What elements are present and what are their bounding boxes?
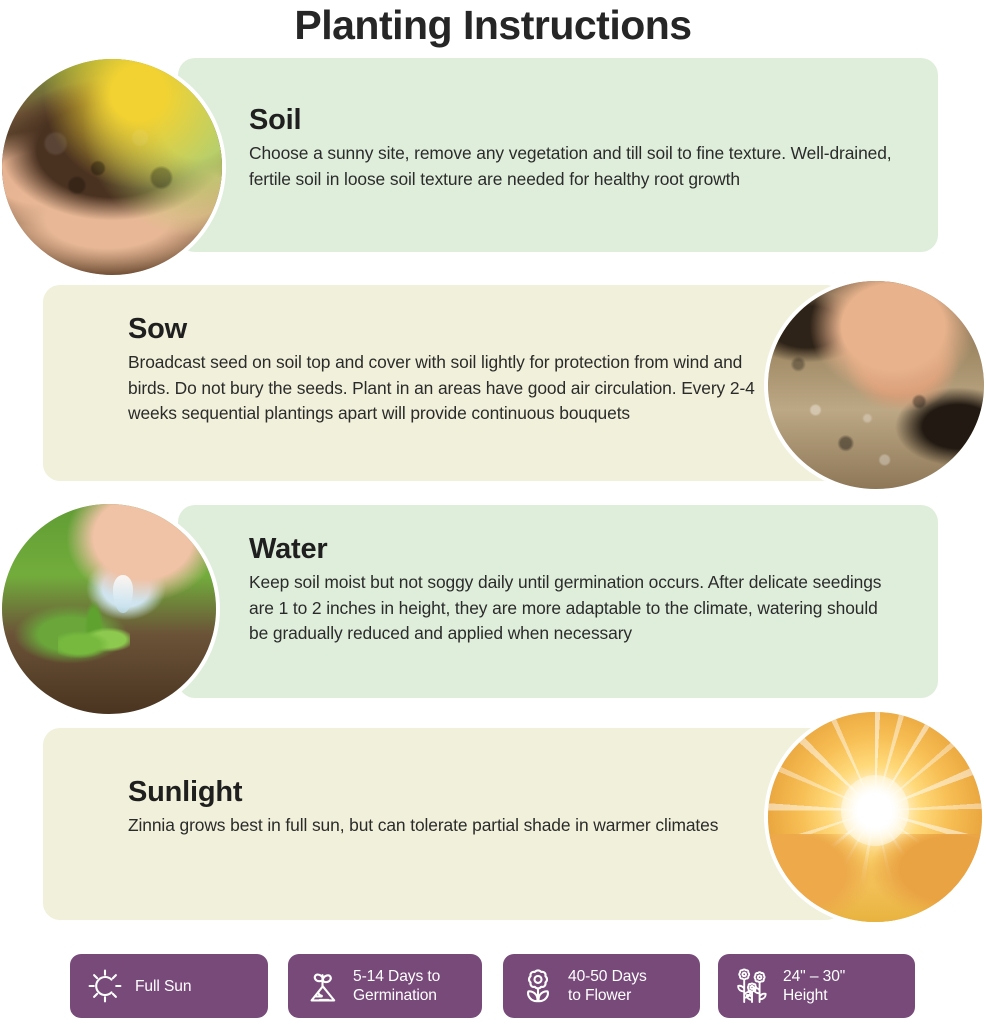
badge-flower[interactable]: 40-50 Days to Flower xyxy=(503,954,700,1018)
watering-seedling-photo xyxy=(0,500,220,718)
soil-in-hands-photo xyxy=(0,55,226,279)
section-heading-soil: Soil xyxy=(249,104,894,137)
section-body-sow: Sow Broadcast seed on soil top and cover… xyxy=(128,313,758,427)
section-body-soil: Soil Choose a sunny site, remove any veg… xyxy=(249,104,894,192)
section-text-water: Keep soil moist but not soggy daily unti… xyxy=(249,570,894,647)
badge-label-flower: 40-50 Days to Flower xyxy=(568,967,647,1005)
badge-height[interactable]: 24" – 30" Height xyxy=(718,954,915,1018)
flower-heights-icon xyxy=(732,965,774,1007)
section-heading-water: Water xyxy=(249,533,894,566)
sprout-mound-icon xyxy=(302,965,344,1007)
section-text-sunlight: Zinnia grows best in full sun, but can t… xyxy=(128,813,748,839)
badge-germination[interactable]: 5-14 Days to Germination xyxy=(288,954,482,1018)
page-title: Planting Instructions xyxy=(0,2,986,49)
section-body-water: Water Keep soil moist but not soggy dail… xyxy=(249,533,894,647)
section-heading-sunlight: Sunlight xyxy=(128,776,748,809)
hand-sowing-seed-photo xyxy=(764,277,986,493)
section-heading-sow: Sow xyxy=(128,313,758,346)
section-text-sow: Broadcast seed on soil top and cover wit… xyxy=(128,350,758,427)
badge-label-height: 24" – 30" Height xyxy=(783,967,845,1005)
badge-full-sun[interactable]: Full Sun xyxy=(70,954,268,1018)
badge-label-germination: 5-14 Days to Germination xyxy=(353,967,440,1005)
sun-icon xyxy=(84,965,126,1007)
section-body-sunlight: Sunlight Zinnia grows best in full sun, … xyxy=(128,776,748,839)
sun-over-field-photo xyxy=(764,708,986,926)
badge-label-full-sun: Full Sun xyxy=(135,977,191,996)
section-text-soil: Choose a sunny site, remove any vegetati… xyxy=(249,141,894,192)
planting-instructions-infographic: Planting Instructions Soil Choose a sunn… xyxy=(0,0,986,1024)
flower-icon xyxy=(517,965,559,1007)
